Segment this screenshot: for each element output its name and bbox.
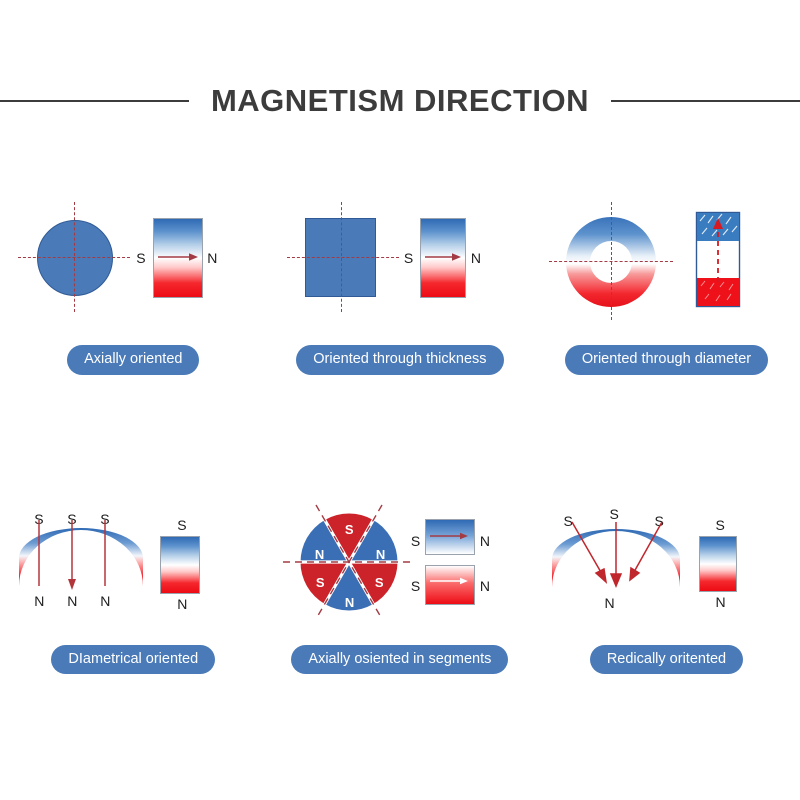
diagram-grid: S N Axially oriented S N Oriented throug… bbox=[0, 190, 800, 674]
pole-label-side-bottom: N bbox=[177, 597, 187, 611]
figure-axially-oriented-in-segments: S N S N S N S N S bbox=[275, 490, 525, 645]
polarity-arrow-lines bbox=[16, 514, 146, 598]
card-label-radically-oriented[interactable]: Redically oritented bbox=[590, 645, 743, 675]
figure-oriented-through-diameter bbox=[541, 190, 791, 345]
crosshair-vertical bbox=[74, 202, 75, 312]
segment-label-bottom: N bbox=[345, 596, 354, 609]
page-title: MAGNETISM DIRECTION bbox=[211, 83, 589, 119]
card-label-axially-oriented[interactable]: Axially oriented bbox=[67, 345, 199, 375]
card-label-diametrical-oriented[interactable]: DIametrical oriented bbox=[51, 645, 215, 675]
bar2-polarity-arrow-icon bbox=[428, 576, 472, 586]
pole-label-side-top: S bbox=[715, 518, 724, 532]
card-axially-oriented: S N Axially oriented bbox=[0, 190, 267, 375]
pole-label-right: N bbox=[471, 251, 481, 265]
magnet-side-view-bar bbox=[160, 536, 200, 594]
bar2-pole-right: N bbox=[480, 579, 490, 593]
pole-label-bottom-3: N bbox=[100, 594, 110, 608]
crosshair-vertical bbox=[341, 202, 342, 312]
bar1-polarity-arrow-icon bbox=[428, 531, 472, 541]
radial-arrow-lines bbox=[549, 514, 684, 600]
crosshair-horizontal bbox=[287, 257, 399, 258]
title-rule-right bbox=[611, 100, 800, 102]
pole-label-right: N bbox=[207, 251, 217, 265]
segment-label-left-lower: S bbox=[316, 576, 325, 589]
title-rule-left bbox=[0, 100, 189, 102]
bar2-pole-left: S bbox=[411, 579, 420, 593]
figure-radically-oriented: S S S bbox=[541, 490, 791, 645]
diagram-row-1: S N Axially oriented S N Oriented throug… bbox=[0, 190, 800, 375]
pole-label-side-top: S bbox=[177, 518, 186, 532]
bar1-pole-right: N bbox=[480, 534, 490, 548]
figure-oriented-through-thickness: S N bbox=[275, 190, 525, 345]
card-label-oriented-through-thickness[interactable]: Oriented through thickness bbox=[296, 345, 503, 375]
card-radically-oriented: S S S bbox=[533, 490, 800, 675]
polarity-arrow-icon bbox=[156, 251, 200, 263]
card-oriented-through-thickness: S N Oriented through thickness bbox=[267, 190, 534, 375]
magnet-side-view-bar bbox=[696, 212, 740, 307]
bar1-pole-left: S bbox=[411, 534, 420, 548]
figure-axially-oriented: S N bbox=[8, 190, 258, 345]
figure-diametrical-oriented: S S S bbox=[8, 490, 258, 645]
polarity-arrow-icon bbox=[423, 251, 463, 263]
magnet-disc-face bbox=[37, 220, 113, 296]
pole-label-bottom: N bbox=[604, 596, 614, 610]
pole-label-left: S bbox=[136, 251, 145, 265]
pole-label-side-bottom: N bbox=[715, 595, 725, 609]
card-diametrical-oriented: S S S bbox=[0, 490, 267, 675]
segment-label-right-upper: N bbox=[376, 548, 385, 561]
card-axially-oriented-in-segments: S N S N S N S N S bbox=[267, 490, 534, 675]
segment-label-right-lower: S bbox=[375, 576, 384, 589]
diagram-row-2: S S S bbox=[0, 490, 800, 675]
card-oriented-through-diameter: Oriented through diameter bbox=[533, 190, 800, 375]
magnet-side-view-bar bbox=[699, 536, 737, 592]
page-header: MAGNETISM DIRECTION bbox=[0, 78, 800, 124]
crosshair-vertical bbox=[611, 202, 612, 320]
pole-label-bottom-1: N bbox=[34, 594, 44, 608]
card-label-axially-oriented-in-segments[interactable]: Axially osiented in segments bbox=[291, 645, 508, 675]
segment-label-left-upper: N bbox=[315, 548, 324, 561]
segment-label-top: S bbox=[345, 523, 354, 536]
pole-label-left: S bbox=[404, 251, 413, 265]
card-label-oriented-through-diameter[interactable]: Oriented through diameter bbox=[565, 345, 768, 375]
pole-label-bottom-2: N bbox=[67, 594, 77, 608]
